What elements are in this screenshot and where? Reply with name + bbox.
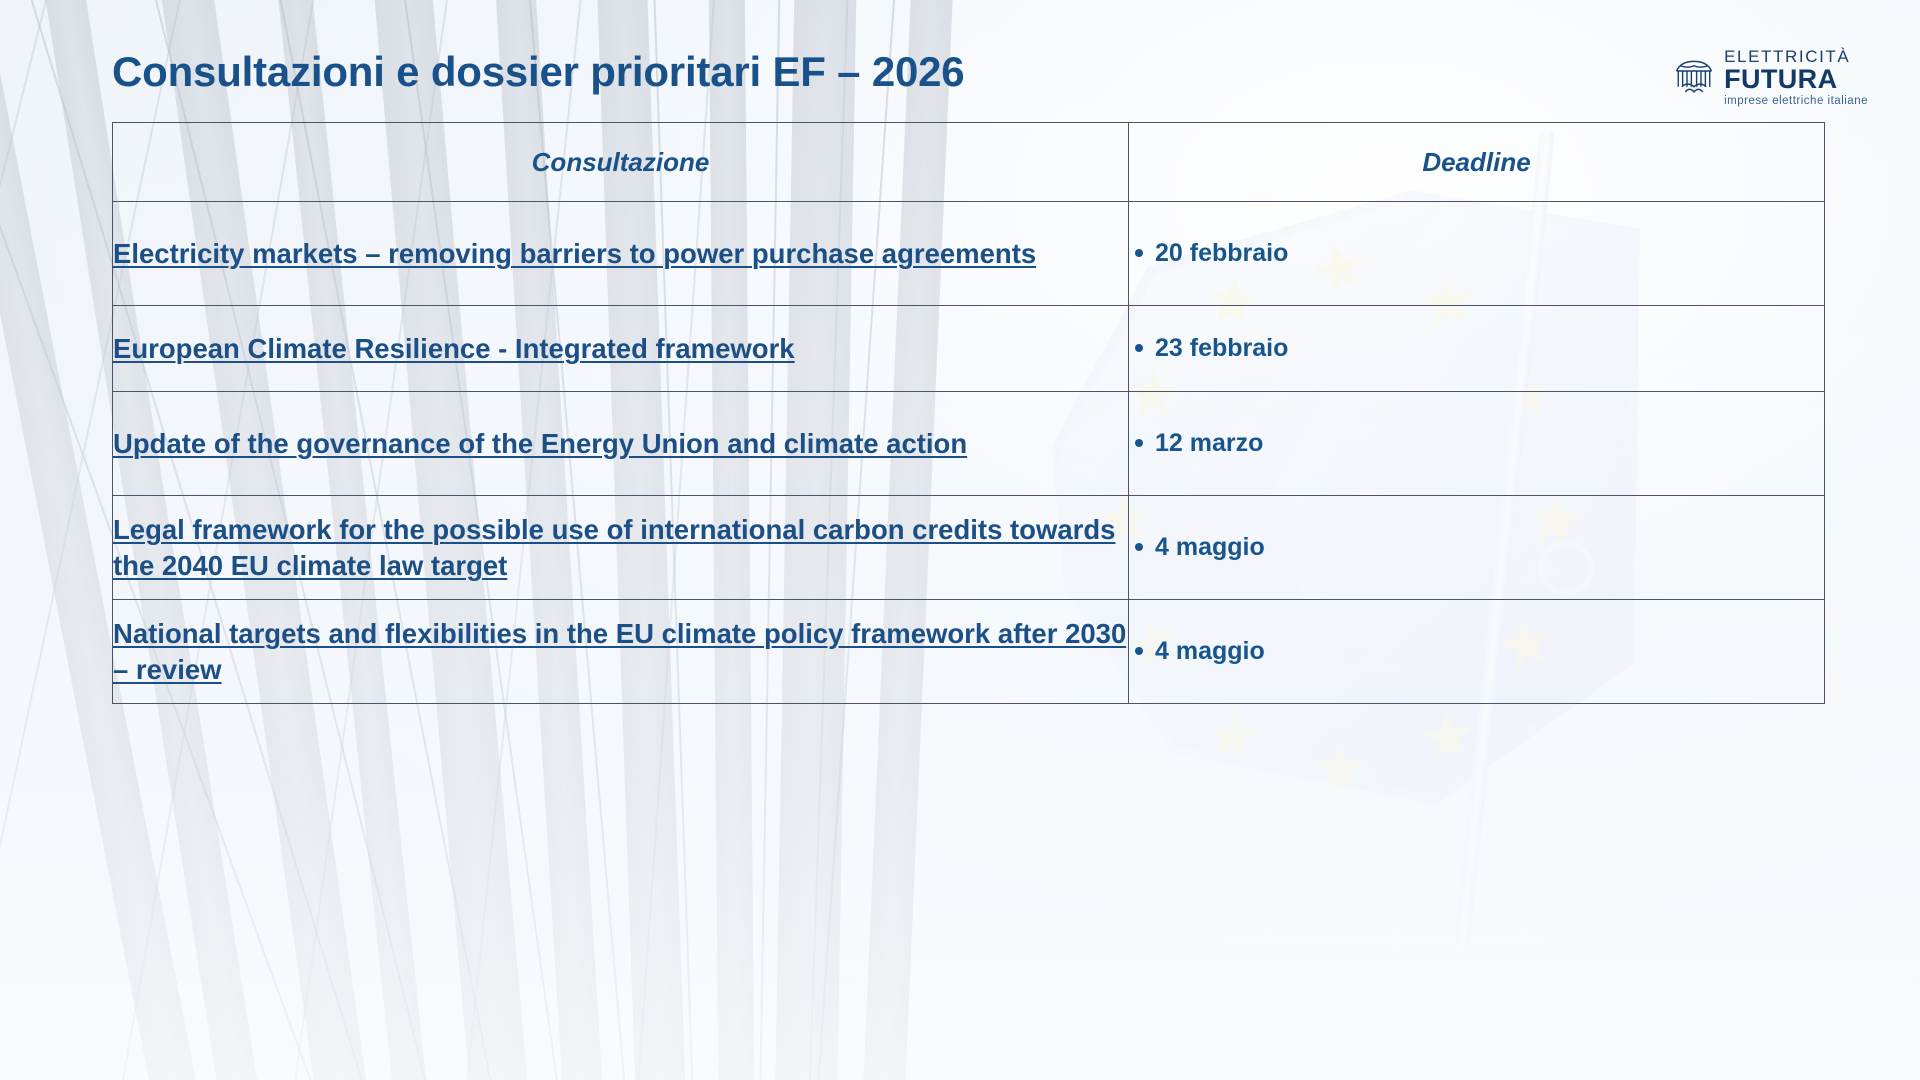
logo-wordmark: ELETTRICITÀ FUTURA imprese elettriche it… — [1724, 48, 1868, 108]
page-title: Consultazioni e dossier prioritari EF – … — [112, 48, 964, 96]
deadline-list: 4 maggio — [1129, 635, 1824, 668]
deadline-cell: 12 marzo — [1129, 392, 1825, 496]
table-row: European Climate Resilience - Integrated… — [113, 306, 1825, 392]
logo-line-futura: FUTURA — [1724, 66, 1868, 93]
deadline-cell: 23 febbraio — [1129, 306, 1825, 392]
consultation-link[interactable]: European Climate Resilience - Integrated… — [113, 333, 795, 364]
consultation-cell: Legal framework for the possible use of … — [113, 496, 1129, 600]
logo-tagline: imprese elettriche italiane — [1724, 96, 1868, 108]
deadline-item: 4 maggio — [1155, 531, 1824, 564]
consultation-link[interactable]: National targets and flexibilities in th… — [113, 618, 1126, 685]
table-row: National targets and flexibilities in th… — [113, 600, 1825, 704]
deadline-item: 4 maggio — [1155, 635, 1824, 668]
deadline-cell: 4 maggio — [1129, 600, 1825, 704]
header-cell-consultazione: Consultazione — [113, 123, 1129, 202]
consultation-cell: Electricity markets – removing barriers … — [113, 202, 1129, 306]
slide-content: Consultazioni e dossier prioritari EF – … — [0, 0, 1920, 1080]
consultation-link[interactable]: Legal framework for the possible use of … — [113, 514, 1115, 581]
deadline-item: 20 febbraio — [1155, 237, 1824, 270]
slide: Consultazioni e dossier prioritari EF – … — [0, 0, 1920, 1080]
deadline-list: 12 marzo — [1129, 427, 1824, 460]
deadline-list: 23 febbraio — [1129, 332, 1824, 365]
logo-line-elettricita: ELETTRICITÀ — [1724, 48, 1868, 65]
table-row: Update of the governance of the Energy U… — [113, 392, 1825, 496]
header-cell-deadline: Deadline — [1129, 123, 1825, 202]
consultation-cell: National targets and flexibilities in th… — [113, 600, 1129, 704]
header-label-deadline: Deadline — [1422, 147, 1530, 177]
brand-logo: ELETTRICITÀ FUTURA imprese elettriche it… — [1673, 48, 1868, 108]
table-header-row: Consultazione Deadline — [113, 123, 1825, 202]
table-row: Electricity markets – removing barriers … — [113, 202, 1825, 306]
deadline-item: 12 marzo — [1155, 427, 1824, 460]
table-row: Legal framework for the possible use of … — [113, 496, 1825, 600]
deadline-cell: 4 maggio — [1129, 496, 1825, 600]
eagle-crest-icon — [1673, 57, 1715, 99]
header-label-consultazione: Consultazione — [532, 147, 710, 177]
deadline-list: 4 maggio — [1129, 531, 1824, 564]
consultation-cell: Update of the governance of the Energy U… — [113, 392, 1129, 496]
consultations-table: Consultazione Deadline Electricity marke… — [112, 122, 1825, 704]
consultation-link[interactable]: Update of the governance of the Energy U… — [113, 428, 967, 459]
deadline-item: 23 febbraio — [1155, 332, 1824, 365]
consultation-cell: European Climate Resilience - Integrated… — [113, 306, 1129, 392]
deadline-list: 20 febbraio — [1129, 237, 1824, 270]
deadline-cell: 20 febbraio — [1129, 202, 1825, 306]
consultation-link[interactable]: Electricity markets – removing barriers … — [113, 238, 1036, 269]
